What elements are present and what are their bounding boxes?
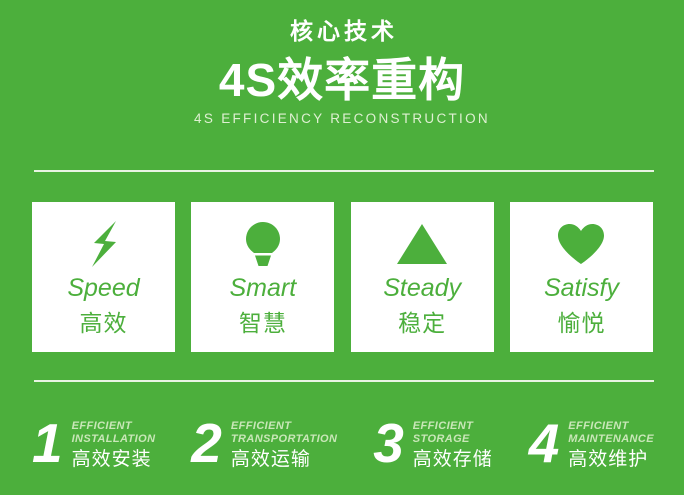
feature-card-title-en: Smart <box>229 276 296 301</box>
step-text: EFFICIENT INSTALLATION 高效安装 <box>72 404 156 471</box>
feature-card-satisfy[interactable]: Satisfy 愉悦 <box>510 202 653 352</box>
feature-card-steady[interactable]: Steady 稳定 <box>351 202 494 352</box>
feature-card-title-en: Satisfy <box>544 276 619 301</box>
lightbulb-icon <box>243 218 283 270</box>
step-number: 2 <box>191 416 222 471</box>
step-number: 1 <box>32 416 63 471</box>
feature-card-title-en: Speed <box>67 276 139 301</box>
step-item-1[interactable]: 1 EFFICIENT INSTALLATION 高效安装 <box>32 404 155 476</box>
step-item-4[interactable]: 4 EFFICIENT MAINTENANCE 高效维护 <box>529 404 654 476</box>
step-label-en: EFFICIENT STORAGE <box>413 420 493 446</box>
header: 核心技术 4S效率重构 4S EFFICIENCY RECONSTRUCTION <box>0 18 684 128</box>
step-row: 1 EFFICIENT INSTALLATION 高效安装 2 EFFICIEN… <box>32 404 654 476</box>
feature-card-title-cn: 智慧 <box>239 312 287 335</box>
heart-icon <box>556 218 606 270</box>
divider-top <box>34 170 654 172</box>
step-label-cn: 高效维护 <box>568 450 654 471</box>
step-item-2[interactable]: 2 EFFICIENT TRANSPORTATION 高效运输 <box>191 404 337 476</box>
step-item-3[interactable]: 3 EFFICIENT STORAGE 高效存储 <box>373 404 493 476</box>
step-label-cn: 高效存储 <box>413 450 493 471</box>
feature-card-smart[interactable]: Smart 智慧 <box>191 202 334 352</box>
step-label-en: EFFICIENT TRANSPORTATION <box>231 420 337 446</box>
step-number: 3 <box>373 416 404 471</box>
feature-card-row: Speed 高效 Smart 智慧 Steady 稳定 <box>32 202 653 352</box>
feature-card-title-en: Steady <box>383 276 461 301</box>
step-number: 4 <box>529 416 560 471</box>
feature-card-speed[interactable]: Speed 高效 <box>32 202 175 352</box>
step-text: EFFICIENT MAINTENANCE 高效维护 <box>568 404 654 471</box>
step-label-en: EFFICIENT INSTALLATION <box>72 420 156 446</box>
step-label-en: EFFICIENT MAINTENANCE <box>568 420 654 446</box>
page-title: 4S效率重构 <box>0 54 684 107</box>
step-text: EFFICIENT STORAGE 高效存储 <box>413 404 493 471</box>
step-label-cn: 高效安装 <box>72 450 156 471</box>
feature-card-title-cn: 愉悦 <box>557 312 605 335</box>
step-text: EFFICIENT TRANSPORTATION 高效运输 <box>231 404 337 471</box>
feature-card-title-cn: 高效 <box>80 312 128 335</box>
feature-card-title-cn: 稳定 <box>398 312 446 335</box>
page-subtitle: 4S EFFICIENCY RECONSTRUCTION <box>0 111 684 127</box>
poster-root: 核心技术 4S效率重构 4S EFFICIENCY RECONSTRUCTION… <box>0 0 684 495</box>
divider-bottom <box>34 380 654 382</box>
triangle-icon <box>396 218 448 270</box>
lightning-bolt-icon <box>86 218 122 270</box>
eyebrow-text: 核心技术 <box>0 18 684 46</box>
step-label-cn: 高效运输 <box>231 450 337 471</box>
